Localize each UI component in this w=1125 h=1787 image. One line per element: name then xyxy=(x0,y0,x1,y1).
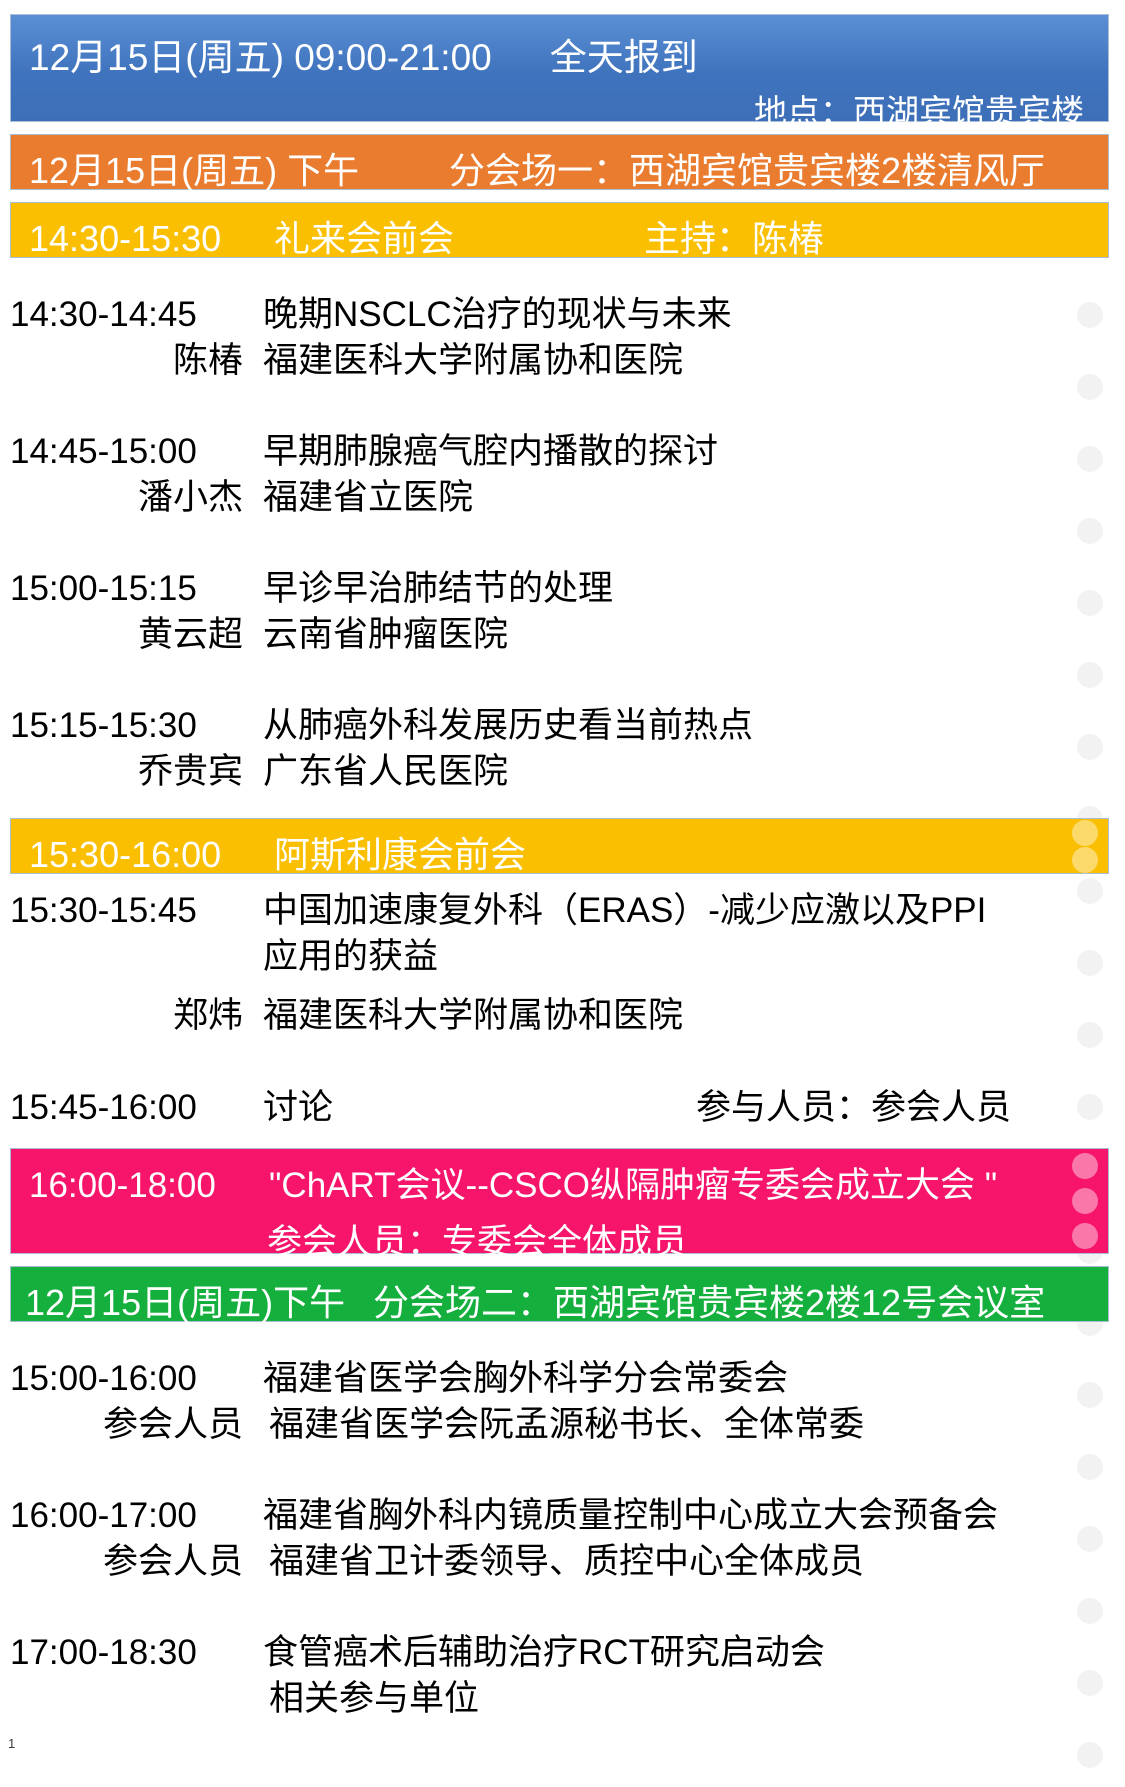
session-az-time: 15:30-16:00 xyxy=(29,834,274,876)
talk-title: 晚期NSCLC治疗的现状与未来 xyxy=(253,292,1115,338)
decorative-dot xyxy=(1077,1742,1103,1768)
item-title: 福建省胸外科内镜质量控制中心成立大会预备会 xyxy=(253,1493,1115,1539)
item-title: 福建省医学会胸外科学分会常委会 xyxy=(253,1356,1115,1402)
agenda-row: 陈椿 福建医科大学附属协和医院 xyxy=(0,338,1125,384)
agenda-row: 黄云超 云南省肿瘤医院 xyxy=(0,612,1125,658)
session-lilly-title: 礼来会前会 xyxy=(274,210,454,262)
item-time: 15:00-16:00 xyxy=(10,1356,253,1402)
talk-participants: 参与人员：参会人员 xyxy=(696,1085,1011,1131)
registration-datetime: 12月15日(周五) 09:00-21:00 xyxy=(29,27,492,81)
session-az-title: 阿斯利康会前会 xyxy=(274,826,526,878)
agenda-row: 14:30-14:45 晚期NSCLC治疗的现状与未来 xyxy=(0,292,1125,338)
item-participants: 相关参与单位 xyxy=(253,1676,1115,1722)
agenda-row: 17:00-18:30 食管癌术后辅助治疗RCT研究启动会 xyxy=(0,1630,1125,1676)
item-title: 食管癌术后辅助治疗RCT研究启动会 xyxy=(253,1630,1115,1676)
talk-time: 14:45-15:00 xyxy=(10,429,253,475)
talk-title: 早诊早治肺结节的处理 xyxy=(253,566,1115,612)
agenda-row: 16:00-17:00 福建省胸外科内镜质量控制中心成立大会预备会 xyxy=(0,1493,1125,1539)
venue-two-room: 分会场二：西湖宾馆贵宾楼2楼12号会议室 xyxy=(373,1274,1045,1326)
agenda-row: 乔贵宾 广东省人民医院 xyxy=(0,749,1125,795)
talk-time: 15:15-15:30 xyxy=(10,703,253,749)
talk-title: 早期肺腺癌气腔内播散的探讨 xyxy=(253,429,1115,475)
registration-banner: 12月15日(周五) 09:00-21:00 全天报到 地点：西湖宾馆贵宾楼 xyxy=(10,14,1109,122)
talk-affiliation: 福建医科大学附属协和医院 xyxy=(253,338,1115,384)
agenda-row: 15:00-15:15 早诊早治肺结节的处理 xyxy=(0,566,1125,612)
talk-speaker: 黄云超 xyxy=(10,612,253,658)
talk-time: 14:30-14:45 xyxy=(10,292,253,338)
registration-venue: 地点：西湖宾馆贵宾楼 xyxy=(754,85,1084,133)
talk-affiliation: 福建省立医院 xyxy=(253,475,1115,521)
item-participants-label: 参会人员 xyxy=(10,1539,253,1585)
page-number: 1 xyxy=(8,1736,15,1751)
agenda-row: 14:45-15:00 早期肺腺癌气腔内播散的探讨 xyxy=(0,429,1125,475)
agenda-row: 15:30-15:45 中国加速康复外科（ERAS）-减少应激以及PPI xyxy=(0,888,1125,934)
venue-one-banner: 12月15日(周五) 下午 分会场一：西湖宾馆贵宾楼2楼清风厅 xyxy=(10,134,1109,190)
session-header-lilly: 14:30-15:30 礼来会前会 主持：陈椿 xyxy=(10,202,1109,258)
talk-affiliation: 广东省人民医院 xyxy=(253,749,1115,795)
talk-speaker: 郑炜 xyxy=(10,993,253,1039)
conference-agenda-page: 12月15日(周五) 09:00-21:00 全天报到 地点：西湖宾馆贵宾楼 1… xyxy=(0,0,1125,1721)
agenda-row: 15:15-15:30 从肺癌外科发展历史看当前热点 xyxy=(0,703,1125,749)
session-lilly-chair: 主持：陈椿 xyxy=(644,210,824,262)
item-time: 17:00-18:30 xyxy=(10,1630,253,1676)
item-participants: 福建省卫计委领导、质控中心全体成员 xyxy=(253,1539,1115,1585)
talk-title: 从肺癌外科发展历史看当前热点 xyxy=(253,703,1115,749)
agenda-row: 参会人员 福建省卫计委领导、质控中心全体成员 xyxy=(0,1539,1125,1585)
session-chart-title: "ChART会议--CSCO纵隔肿瘤专委会成立大会 " xyxy=(269,1157,997,1208)
agenda-row: 参会人员 福建省医学会阮孟源秘书长、全体常委 xyxy=(0,1402,1125,1448)
item-participants: 福建省医学会阮孟源秘书长、全体常委 xyxy=(253,1402,1115,1448)
talk-title-continued: 应用的获益 xyxy=(253,934,1115,980)
talk-time: 15:45-16:00 xyxy=(10,1085,253,1131)
talk-affiliation: 福建医科大学附属协和医院 xyxy=(253,993,1115,1039)
session-header-astrazeneca: 15:30-16:00 阿斯利康会前会 xyxy=(10,818,1109,874)
agenda-row: 郑炜 福建医科大学附属协和医院 xyxy=(0,993,1125,1039)
agenda-row: 潘小杰 福建省立医院 xyxy=(0,475,1125,521)
venue-two-date: 12月15日(周五)下午 xyxy=(25,1274,253,1326)
agenda-row: 相关参与单位 xyxy=(0,1676,1125,1722)
item-participants-label: 参会人员 xyxy=(10,1402,253,1448)
talk-speaker: 潘小杰 xyxy=(10,475,253,521)
item-time: 16:00-17:00 xyxy=(10,1493,253,1539)
talk-time: 15:00-15:15 xyxy=(10,566,253,612)
agenda-row: 15:00-16:00 福建省医学会胸外科学分会常委会 xyxy=(0,1356,1125,1402)
venue-one-date: 12月15日(周五) 下午 xyxy=(29,142,279,194)
talk-title: 讨论 xyxy=(263,1085,333,1131)
agenda-row: 15:45-16:00 讨论 参与人员：参会人员 xyxy=(0,1085,1125,1131)
talk-title: 中国加速康复外科（ERAS）-减少应激以及PPI xyxy=(253,888,1115,934)
agenda-row: 应用的获益 xyxy=(0,934,1125,980)
venue-one-room: 分会场一：西湖宾馆贵宾楼2楼清风厅 xyxy=(449,142,1045,194)
talk-speaker: 乔贵宾 xyxy=(10,749,253,795)
talk-speaker: 陈椿 xyxy=(10,338,253,384)
session-chart-time: 16:00-18:00 xyxy=(29,1166,269,1206)
session-header-chart: 16:00-18:00 "ChART会议--CSCO纵隔肿瘤专委会成立大会 " … xyxy=(10,1148,1109,1254)
session-chart-participants: 参会人员：专委会全体成员 xyxy=(267,1214,687,1265)
talk-time: 15:30-15:45 xyxy=(10,888,253,934)
talk-affiliation: 云南省肿瘤医院 xyxy=(253,612,1115,658)
registration-activity: 全天报到 xyxy=(550,27,698,81)
venue-two-banner: 12月15日(周五)下午 分会场二：西湖宾馆贵宾楼2楼12号会议室 xyxy=(10,1266,1109,1322)
session-lilly-time: 14:30-15:30 xyxy=(29,218,274,260)
